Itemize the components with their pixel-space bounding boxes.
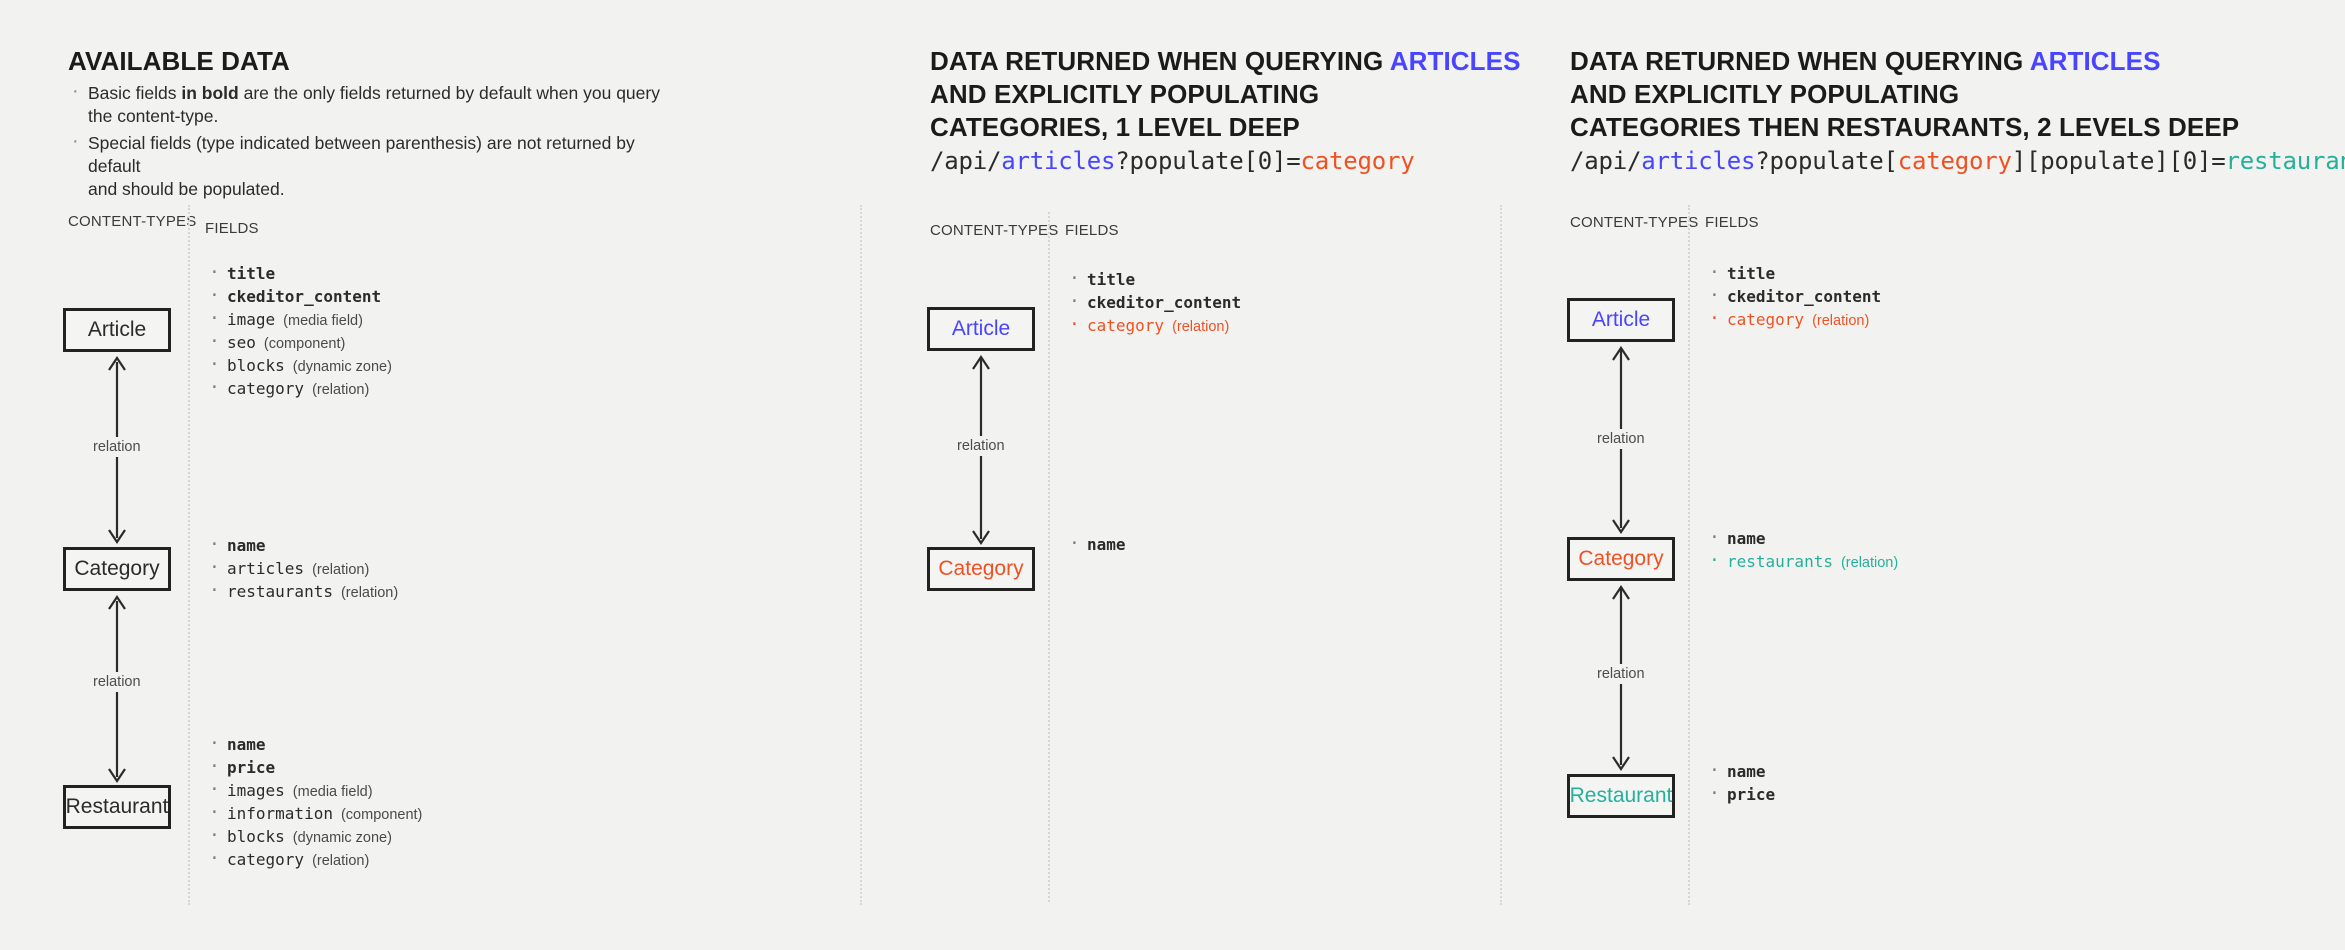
field-name: name [227, 735, 266, 754]
panel-populate-2-levels: DATA RETURNED WHEN QUERYING ARTICLES AND… [1500, 0, 2345, 950]
bullet-dot-icon: · [209, 534, 220, 556]
field-type: (relation) [312, 853, 369, 869]
panel-2-heading-line-1: DATA RETURNED WHEN QUERYING ARTICLES [930, 46, 1521, 76]
field-type: (media field) [283, 313, 363, 329]
heading-accent-articles: ARTICLES [2030, 46, 2161, 76]
field-name: name [1727, 762, 1766, 781]
heading-text: DATA RETURNED WHEN QUERYING [930, 46, 1390, 76]
field-row: ·information(component) [205, 802, 422, 825]
field-type: (component) [341, 807, 422, 823]
field-row: ·name [205, 534, 398, 557]
column-label-fields: FIELDS [205, 220, 259, 237]
entity-box-restaurant[interactable]: Restaurant [1567, 774, 1675, 818]
panel-1-bullets: Basic fields in bold are the only fields… [68, 82, 688, 205]
field-row: ·restaurants(relation) [205, 580, 398, 603]
bullet-dot-icon: · [209, 802, 220, 824]
field-row: ·ckeditor_content [1705, 285, 1881, 308]
field-type: (component) [264, 336, 345, 352]
field-name: information [227, 804, 333, 823]
field-name: restaurants [1727, 552, 1833, 571]
field-name: category [1087, 316, 1164, 335]
column-label-content-types: CONTENT-TYPES [930, 222, 1058, 239]
field-name: price [227, 758, 275, 777]
bullet-line-3: and should be populated. [88, 179, 285, 199]
field-type: (dynamic zone) [293, 359, 392, 375]
field-list-category: ·name·restaurants(relation) [1705, 527, 1898, 573]
bullet-dot-icon: · [1709, 760, 1720, 782]
api-path-part-populate-nested: ][populate][0]= [2012, 147, 2226, 175]
bullet-dot-icon: · [209, 262, 220, 284]
api-path-part-prefix: /api/ [1570, 147, 1641, 175]
panel-1-inner-divider [188, 205, 190, 905]
column-label-content-types: CONTENT-TYPES [1570, 214, 1698, 231]
entity-box-restaurant[interactable]: Restaurant [63, 785, 171, 829]
panel-populate-1-level: DATA RETURNED WHEN QUERYING ARTICLES AND… [860, 0, 1500, 950]
bullet-item: Special fields (type indicated between p… [68, 132, 688, 201]
api-path-part-populate: ?populate[0]= [1115, 147, 1300, 175]
column-label-fields: FIELDS [1065, 222, 1119, 239]
field-row: ·title [205, 262, 392, 285]
field-type: (dynamic zone) [293, 830, 392, 846]
field-type: (relation) [1172, 319, 1229, 335]
field-list-restaurant: ·name·price·images(media field)·informat… [205, 733, 422, 871]
api-path-part-category: category [1301, 147, 1415, 175]
field-row: ·name [1065, 533, 1126, 556]
field-name: articles [227, 559, 304, 578]
field-type: (media field) [293, 784, 373, 800]
bullet-dot-icon: · [209, 848, 220, 870]
entity-box-article[interactable]: Article [927, 307, 1035, 351]
field-name: price [1727, 785, 1775, 804]
field-type: (relation) [1812, 313, 1869, 329]
panel-2-heading: DATA RETURNED WHEN QUERYING ARTICLES AND… [930, 45, 1521, 144]
field-row: ·name [205, 733, 422, 756]
field-name: category [227, 379, 304, 398]
bullet-dot-icon: · [209, 825, 220, 847]
panel-1-heading: AVAILABLE DATA [68, 45, 290, 78]
bullet-dot-icon: · [1709, 783, 1720, 805]
entity-box-category[interactable]: Category [63, 547, 171, 591]
column-label-content-types: CONTENT-TYPES [68, 213, 196, 230]
field-name: images [227, 781, 285, 800]
field-name: seo [227, 333, 256, 352]
bullet-dot-icon: · [209, 756, 220, 778]
field-row: ·blocks(dynamic zone) [205, 825, 422, 848]
column-label-fields: FIELDS [1705, 214, 1759, 231]
field-row: ·name [1705, 527, 1898, 550]
bullet-item: Basic fields in bold are the only fields… [68, 82, 688, 128]
panel-3-inner-divider [1688, 205, 1690, 905]
panel-3-heading: DATA RETURNED WHEN QUERYING ARTICLES AND… [1570, 45, 2239, 144]
field-row: ·restaurants(relation) [1705, 550, 1898, 573]
field-name: image [227, 310, 275, 329]
relation-label-article-category: relation [88, 437, 146, 457]
diagram-canvas: AVAILABLE DATA Basic fields in bold are … [0, 0, 2345, 950]
field-name: blocks [227, 356, 285, 375]
field-row: ·blocks(dynamic zone) [205, 354, 392, 377]
panel-3-heading-line-3: CATEGORIES THEN RESTAURANTS, 2 LEVELS DE… [1570, 112, 2239, 142]
bullet-dot-icon: · [1709, 262, 1720, 284]
bullet-dot-icon: · [1709, 308, 1720, 330]
bullet-dot-icon: · [1069, 291, 1080, 313]
entity-box-article[interactable]: Article [63, 308, 171, 352]
field-name: category [227, 850, 304, 869]
panel-separator-1 [860, 205, 862, 905]
field-list-article: ·title·ckeditor_content·image(media fiel… [205, 262, 392, 400]
field-name: restaurants [227, 582, 333, 601]
panel-2-heading-line-3: CATEGORIES, 1 LEVEL DEEP [930, 112, 1300, 142]
api-path-2-levels: /api/articles?populate[category][populat… [1570, 147, 2345, 175]
api-path-part-prefix: /api/ [930, 147, 1001, 175]
field-row: ·title [1065, 268, 1241, 291]
field-list-article: ·title·ckeditor_content·category(relatio… [1705, 262, 1881, 331]
field-row: ·price [205, 756, 422, 779]
field-name: name [1087, 535, 1126, 554]
field-row: ·name [1705, 760, 1775, 783]
panel-separator-2 [1500, 205, 1502, 905]
field-row: ·ckeditor_content [205, 285, 392, 308]
field-row: ·price [1705, 783, 1775, 806]
field-row: ·ckeditor_content [1065, 291, 1241, 314]
field-type: (relation) [1841, 555, 1898, 571]
panel-2-heading-line-2: AND EXPLICITLY POPULATING [930, 79, 1319, 109]
field-name: title [1087, 270, 1135, 289]
api-path-part-articles: articles [1641, 147, 1755, 175]
field-name: title [1727, 264, 1775, 283]
bullet-dot-icon: · [209, 557, 220, 579]
field-list-category: ·name [1065, 533, 1126, 556]
field-list-category: ·name·articles(relation)·restaurants(rel… [205, 534, 398, 603]
bullet-line-2: Special fields (type indicated between p… [88, 133, 635, 176]
field-name: ckeditor_content [1087, 293, 1241, 312]
field-row: ·title [1705, 262, 1881, 285]
relation-label-category-restaurant: relation [1592, 664, 1650, 684]
field-row: ·category(relation) [205, 377, 392, 400]
bullet-dot-icon: · [209, 733, 220, 755]
field-name: ckeditor_content [227, 287, 381, 306]
field-row: ·image(media field) [205, 308, 392, 331]
bullet-dot-icon: · [209, 779, 220, 801]
bullet-dot-icon: · [209, 377, 220, 399]
api-path-part-articles: articles [1001, 147, 1115, 175]
field-name: category [1727, 310, 1804, 329]
relation-label-article-category: relation [952, 436, 1010, 456]
panel-2-inner-divider [1048, 212, 1050, 902]
bullet-bold-fragment: in bold [181, 83, 238, 103]
field-row: ·category(relation) [205, 848, 422, 871]
entity-box-article[interactable]: Article [1567, 298, 1675, 342]
heading-text: DATA RETURNED WHEN QUERYING [1570, 46, 2030, 76]
bullet-dot-icon: · [209, 285, 220, 307]
bullet-dot-icon: · [1709, 285, 1720, 307]
field-name: blocks [227, 827, 285, 846]
field-list-restaurant: ·name·price [1705, 760, 1775, 806]
bullet-dot-icon: · [1069, 268, 1080, 290]
panel-3-heading-line-1: DATA RETURNED WHEN QUERYING ARTICLES [1570, 46, 2161, 76]
field-name: name [1727, 529, 1766, 548]
field-row: ·category(relation) [1065, 314, 1241, 337]
field-name: name [227, 536, 266, 555]
panel-3-heading-line-2: AND EXPLICITLY POPULATING [1570, 79, 1959, 109]
bullet-dot-icon: · [209, 331, 220, 353]
api-path-1-level: /api/articles?populate[0]=category [930, 147, 1415, 175]
bullet-dot-icon: · [209, 308, 220, 330]
bullet-dot-icon: · [209, 354, 220, 376]
relation-label-category-restaurant: relation [88, 672, 146, 692]
api-path-part-restaurants: restaurants [2226, 147, 2345, 175]
field-type: (relation) [312, 382, 369, 398]
entity-box-category[interactable]: Category [927, 547, 1035, 591]
field-row: ·seo(component) [205, 331, 392, 354]
field-name: title [227, 264, 275, 283]
bullet-dot-icon: · [1709, 527, 1720, 549]
api-path-part-category: category [1898, 147, 2012, 175]
field-type: (relation) [312, 562, 369, 578]
field-row: ·images(media field) [205, 779, 422, 802]
bullet-dot-icon: · [209, 580, 220, 602]
field-row: ·articles(relation) [205, 557, 398, 580]
field-name: ckeditor_content [1727, 287, 1881, 306]
field-type: (relation) [341, 585, 398, 601]
bullet-dot-icon: · [1069, 314, 1080, 336]
bullet-dot-icon: · [1709, 550, 1720, 572]
entity-box-category[interactable]: Category [1567, 537, 1675, 581]
bullet-dot-icon: · [1069, 533, 1080, 555]
relation-label-article-category: relation [1592, 429, 1650, 449]
api-path-part-populate-open: ?populate[ [1755, 147, 1898, 175]
panel-1-heading-line-1: AVAILABLE DATA [68, 46, 290, 76]
field-list-article: ·title·ckeditor_content·category(relatio… [1065, 268, 1241, 337]
field-row: ·category(relation) [1705, 308, 1881, 331]
panel-available-data: AVAILABLE DATA Basic fields in bold are … [0, 0, 860, 950]
